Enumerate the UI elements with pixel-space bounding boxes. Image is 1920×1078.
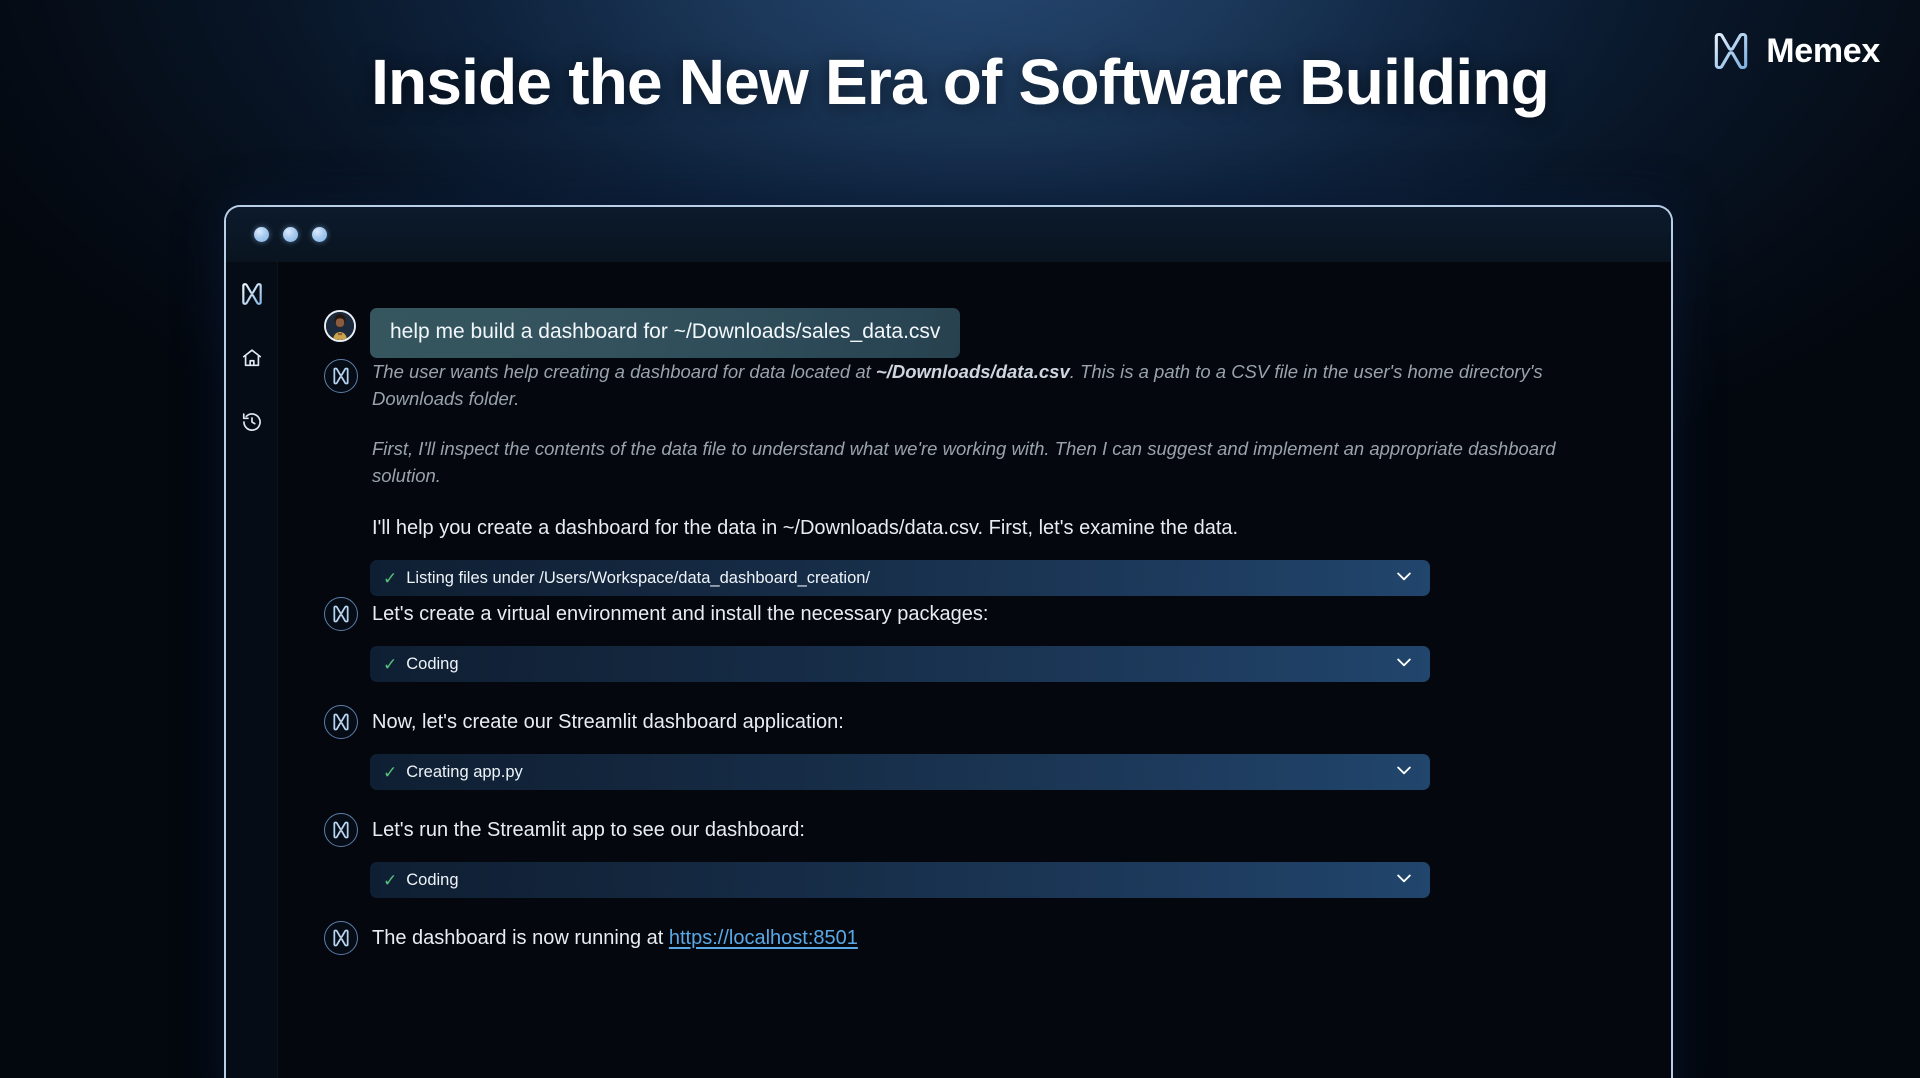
thinking-p1-path: ~/Downloads/data.csv [876, 361, 1070, 382]
tool-card[interactable]: ✓ Coding [370, 646, 1430, 682]
assistant-body-final: The dashboard is now running at https://… [372, 920, 1615, 953]
assistant-step-text: Now, let's create our Streamlit dashboar… [372, 704, 1615, 737]
tool-card-label: Listing files under /Users/Workspace/dat… [406, 569, 1394, 588]
sidebar-item-home[interactable] [237, 343, 267, 373]
thinking-paragraph-2: First, I'll inspect the contents of the … [372, 435, 1557, 489]
chevron-down-icon[interactable] [1394, 566, 1414, 591]
check-icon: ✓ [383, 764, 397, 781]
assistant-badge-icon [324, 705, 358, 739]
chevron-down-icon[interactable] [1394, 868, 1414, 893]
tool-card-label: Creating app.py [406, 763, 1394, 782]
check-icon: ✓ [383, 570, 397, 587]
assistant-message-row-4: Let's run the Streamlit app to see our d… [324, 812, 1615, 898]
tool-card[interactable]: ✓ Listing files under /Users/Workspace/d… [370, 560, 1430, 596]
avatar [324, 310, 356, 342]
sidebar-rail [226, 262, 278, 1078]
check-icon: ✓ [383, 656, 397, 673]
assistant-message-row-3: Now, let's create our Streamlit dashboar… [324, 704, 1615, 790]
minimize-dot[interactable] [283, 227, 298, 242]
app-window: help me build a dashboard for ~/Download… [224, 205, 1673, 1078]
brand-lockup: Memex [1709, 29, 1880, 73]
final-message-prefix: The dashboard is now running at [372, 927, 669, 949]
assistant-message-row-final: The dashboard is now running at https://… [324, 920, 1615, 955]
assistant-badge-icon [324, 359, 358, 393]
memex-bowtie-logo-icon [239, 281, 265, 307]
assistant-body-1: The user wants help creating a dashboard… [372, 358, 1615, 596]
assistant-body-4: Let's run the Streamlit app to see our d… [372, 812, 1615, 898]
assistant-badge-icon [324, 597, 358, 631]
assistant-message-row-1: The user wants help creating a dashboard… [324, 358, 1615, 596]
tool-card-label: Coding [406, 871, 1394, 890]
check-icon: ✓ [383, 872, 397, 889]
chevron-down-icon[interactable] [1394, 652, 1414, 677]
traffic-lights [254, 227, 327, 242]
home-icon [241, 347, 263, 369]
chevron-down-icon[interactable] [1394, 760, 1414, 785]
final-message-text: The dashboard is now running at https://… [372, 920, 1615, 953]
thinking-p1-pre: The user wants help creating a dashboard… [372, 361, 876, 382]
assistant-badge-icon [324, 921, 358, 955]
poster-canvas: Inside the New Era of Software Building … [0, 0, 1920, 1078]
assistant-step-text: Let's run the Streamlit app to see our d… [372, 812, 1615, 845]
sidebar-item-history[interactable] [237, 407, 267, 437]
window-body: help me build a dashboard for ~/Download… [226, 262, 1671, 1078]
maximize-dot[interactable] [312, 227, 327, 242]
chat-transcript: help me build a dashboard for ~/Download… [278, 262, 1671, 1078]
assistant-message-row-2: Let's create a virtual environment and i… [324, 596, 1615, 682]
history-clock-icon [241, 411, 263, 433]
user-message-row: help me build a dashboard for ~/Download… [324, 308, 1615, 358]
assistant-step-text: Let's create a virtual environment and i… [372, 596, 1615, 629]
assistant-reply-text: I'll help you create a dashboard for the… [372, 514, 1615, 543]
thinking-paragraph-1: The user wants help creating a dashboard… [372, 358, 1557, 412]
page-title: Inside the New Era of Software Building [0, 45, 1920, 119]
assistant-body-2: Let's create a virtual environment and i… [372, 596, 1615, 682]
dashboard-url-link[interactable]: https://localhost:8501 [669, 927, 858, 949]
user-message-bubble: help me build a dashboard for ~/Download… [370, 308, 960, 358]
tool-card[interactable]: ✓ Creating app.py [370, 754, 1430, 790]
sidebar-item-memex-logo[interactable] [237, 279, 267, 309]
window-titlebar [226, 207, 1671, 262]
memex-bowtie-logo-icon [1709, 29, 1753, 73]
tool-card-label: Coding [406, 655, 1394, 674]
tool-card[interactable]: ✓ Coding [370, 862, 1430, 898]
close-dot[interactable] [254, 227, 269, 242]
assistant-body-3: Now, let's create our Streamlit dashboar… [372, 704, 1615, 790]
brand-name: Memex [1766, 32, 1880, 71]
assistant-badge-icon [324, 813, 358, 847]
